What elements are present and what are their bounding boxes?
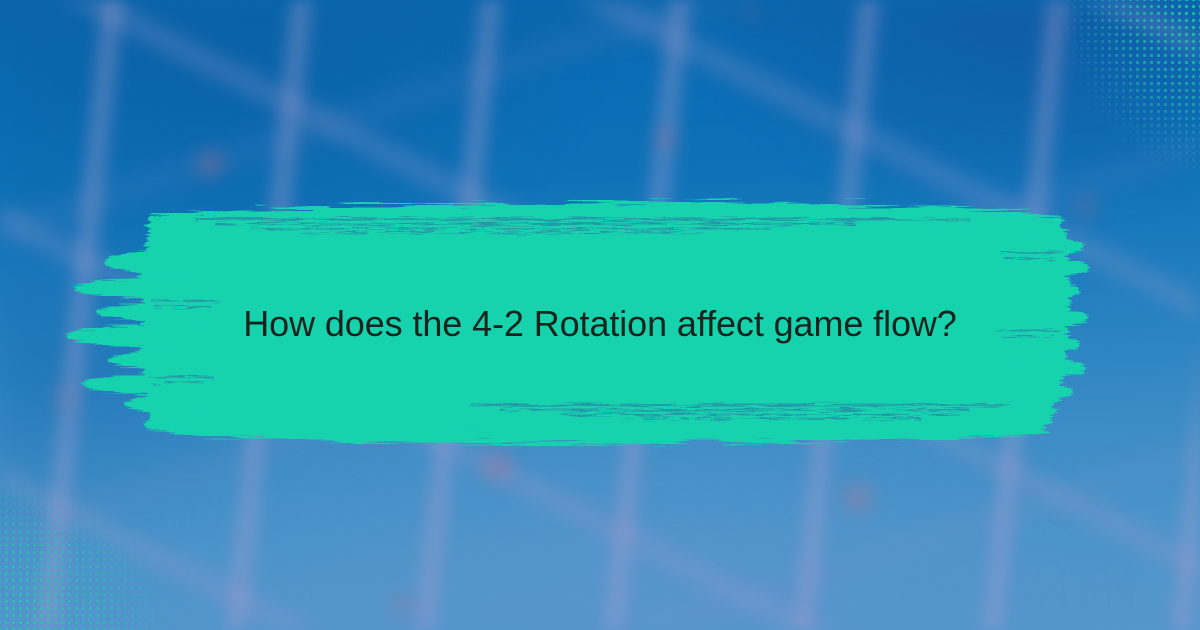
- question-card: How does the 4-2 Rotation affect game fl…: [0, 0, 1200, 630]
- page-title: How does the 4-2 Rotation affect game fl…: [0, 302, 1200, 345]
- halftone-dots-top-right-icon: [1036, 0, 1200, 206]
- halftone-dots-bottom-left-icon: [0, 444, 206, 630]
